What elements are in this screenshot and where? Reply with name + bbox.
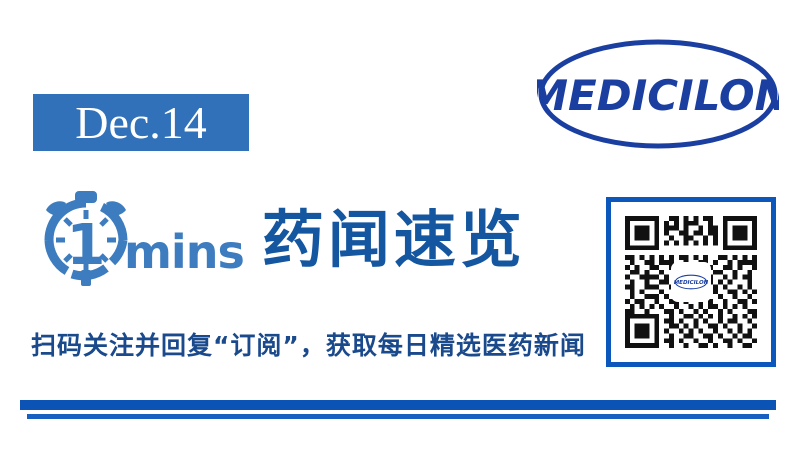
date-badge-label: Dec.14 (75, 100, 207, 146)
qr-code[interactable]: MEDICILON (606, 197, 776, 367)
page-title: 药闻速览 (262, 209, 526, 271)
footer-rule-thick (20, 400, 776, 410)
mins-label: mins (124, 225, 244, 279)
medicilon-logo-text: MEDICILON (537, 71, 779, 120)
qr-center-logo: MEDICILON (671, 262, 711, 302)
qr-code-matrix: MEDICILON (620, 211, 762, 353)
alarm-clock-icon: 1 (34, 188, 138, 292)
date-badge: Dec.14 (33, 94, 249, 151)
subtitle-text: 扫码关注并回复“订阅”，获取每日精选医药新闻 (31, 326, 586, 362)
clock-number: 1 (67, 213, 106, 278)
footer-rule-thin (27, 414, 769, 419)
medicilon-logo: MEDICILON (537, 38, 779, 150)
headline-row: 1 mins 药闻速览 (34, 188, 526, 292)
qr-center-logo-text: MEDICILON (674, 280, 708, 286)
newsletter-banner: Dec.14 (0, 0, 800, 468)
